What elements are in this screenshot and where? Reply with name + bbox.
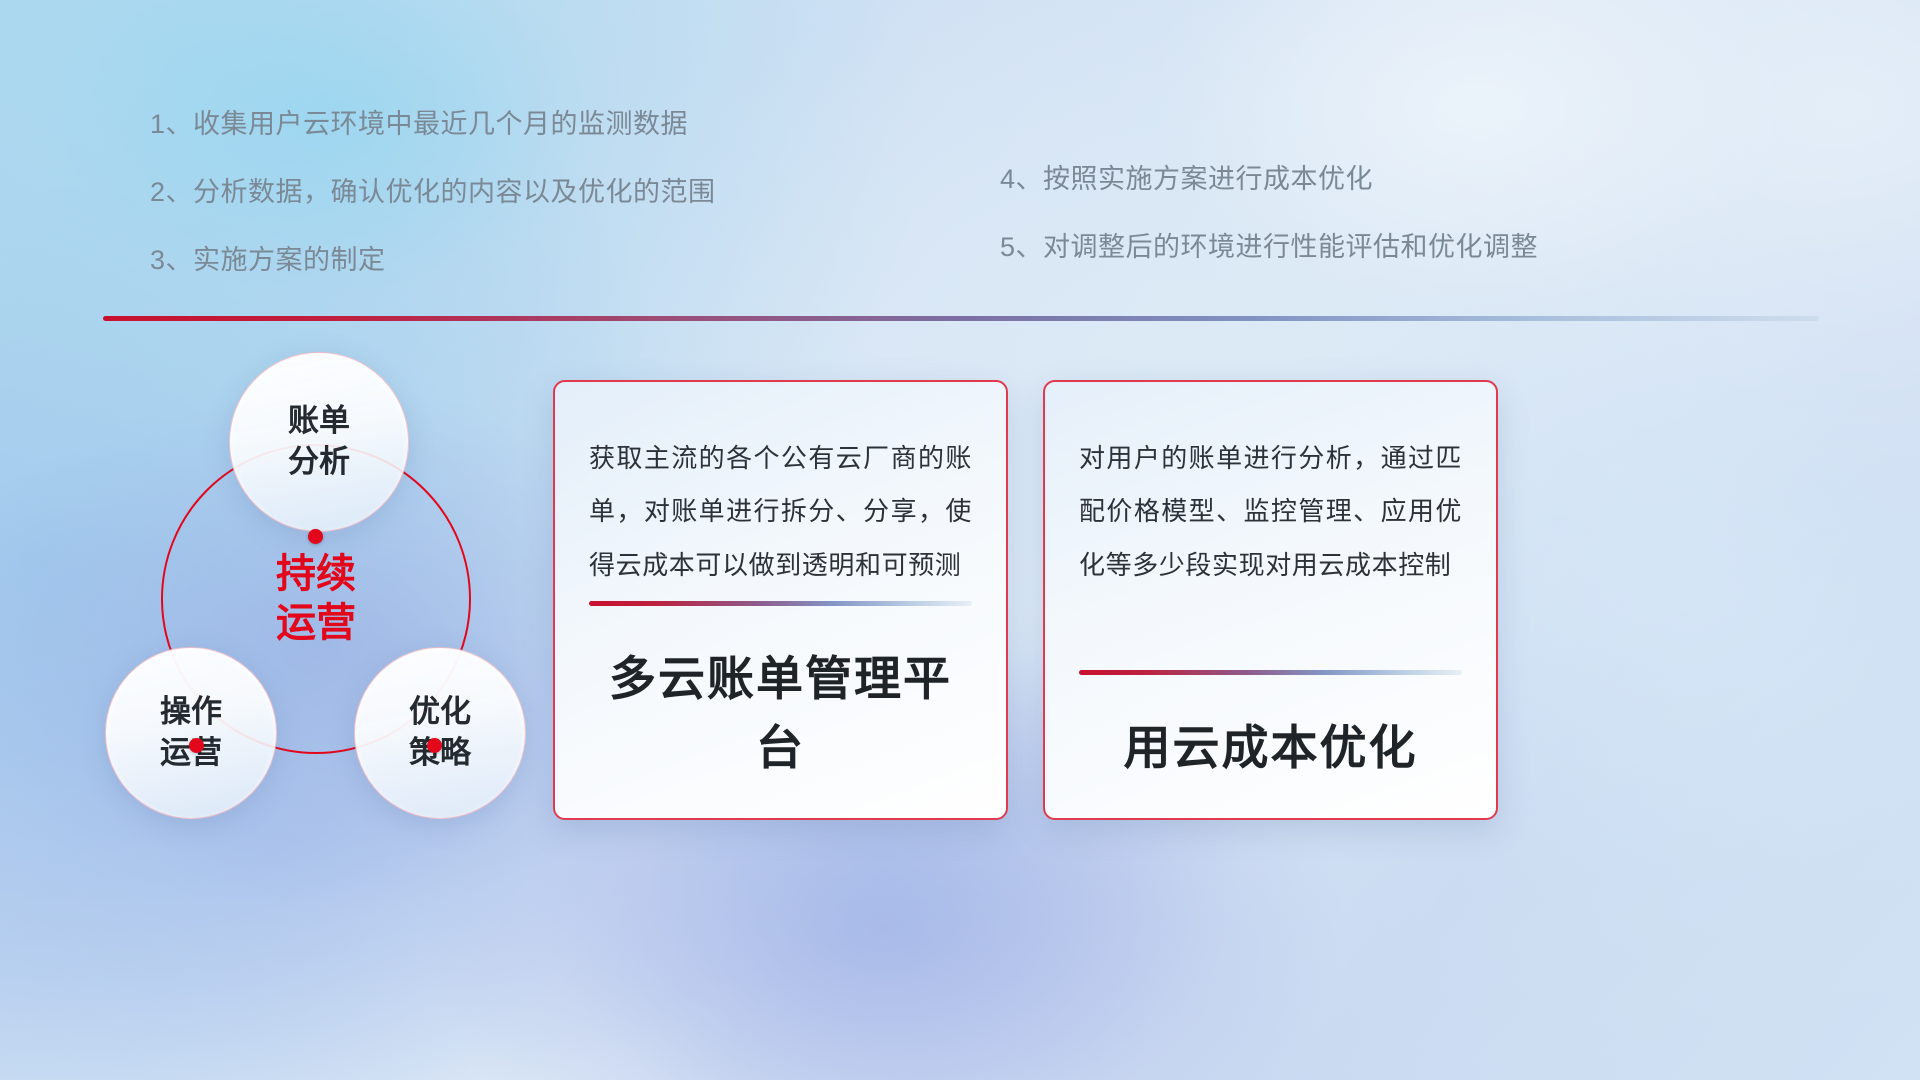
feature-card-2-title: 用云成本优化 xyxy=(1079,675,1462,818)
venn-diagram: 持续运营 账单 分析 操作 运营 优化 策略 xyxy=(96,352,616,932)
feature-card-multicloud-billing[interactable]: 获取主流的各个公有云厂商的账单，对账单进行拆分、分享，使得云成本可以做到透明和可… xyxy=(553,380,1008,820)
venn-node-left-dot xyxy=(189,738,204,753)
venn-circle-operations[interactable]: 操作 运营 xyxy=(105,647,277,819)
bullet-item-4: 4、按照实施方案进行成本优化 xyxy=(1000,157,1538,196)
venn-circle-billing-label: 账单 分析 xyxy=(288,401,350,483)
bullet-item-3: 3、实施方案的制定 xyxy=(150,238,716,277)
venn-circle-policy-line-1: 优化 xyxy=(409,694,471,730)
venn-node-top-dot xyxy=(308,529,323,544)
bullet-list-right: 4、按照实施方案进行成本优化 5、对调整后的环境进行性能评估和优化调整 xyxy=(1000,157,1538,293)
venn-circle-billing-line-2: 分析 xyxy=(288,444,350,480)
section-divider-rule xyxy=(103,316,1819,321)
venn-circle-operations-label: 操作 运营 xyxy=(160,692,222,774)
feature-card-cost-optimization[interactable]: 对用户的账单进行分析，通过匹配价格模型、监控管理、应用优化等多少段实现对用云成本… xyxy=(1043,380,1498,820)
venn-circle-billing-line-1: 账单 xyxy=(288,403,350,439)
feature-card-1-body: 获取主流的各个公有云厂商的账单，对账单进行拆分、分享，使得云成本可以做到透明和可… xyxy=(589,432,972,592)
bullet-item-2: 2、分析数据，确认优化的内容以及优化的范围 xyxy=(150,170,716,209)
venn-circle-policy-label: 优化 策略 xyxy=(409,692,471,774)
feature-card-1-title: 多云账单管理平台 xyxy=(589,606,972,818)
venn-circle-operations-line-1: 操作 xyxy=(160,694,222,730)
center-label-line-2: 运营 xyxy=(276,600,356,646)
venn-circle-billing-analysis[interactable]: 账单 分析 xyxy=(229,352,409,532)
bullet-item-5: 5、对调整后的环境进行性能评估和优化调整 xyxy=(1000,225,1538,264)
venn-circle-optimization-policy[interactable]: 优化 策略 xyxy=(354,647,526,819)
center-label: 持续运营 xyxy=(276,550,356,648)
feature-card-2-body: 对用户的账单进行分析，通过匹配价格模型、监控管理、应用优化等多少段实现对用云成本… xyxy=(1079,432,1462,592)
bullet-list-left: 1、收集用户云环境中最近几个月的监测数据 2、分析数据，确认优化的内容以及优化的… xyxy=(150,102,716,306)
bullet-item-1: 1、收集用户云环境中最近几个月的监测数据 xyxy=(150,102,716,141)
venn-node-right-dot xyxy=(427,738,442,753)
center-label-line-1: 持续 xyxy=(276,551,356,597)
